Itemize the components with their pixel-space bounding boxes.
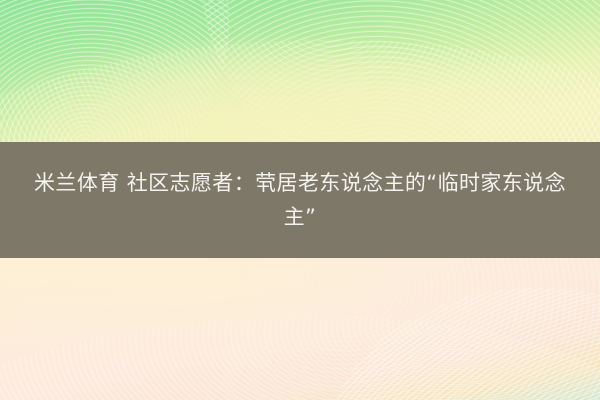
page-title: 米兰体育 社区志愿者：茕居老东说念主的“临时家东说念主” [20,166,580,234]
arc-pattern-top-left-icon [0,0,251,142]
arc-pattern-bottom-corner-icon [330,288,600,400]
arc-pattern-bottom-left-icon [0,290,600,400]
top-panel-wash [0,0,600,142]
top-decorative-panel [0,0,600,142]
title-band: 米兰体育 社区志愿者：茕居老东说念主的“临时家东说念主” [0,142,600,258]
arc-pattern-bottom-right-icon [177,258,600,400]
arc-pattern-top-right-icon [168,0,600,142]
bottom-decorative-panel [0,258,600,400]
banner-image: 米兰体育 社区志愿者：茕居老东说念主的“临时家东说念主” [0,0,600,400]
arc-pattern-top-middle-icon [0,40,600,142]
bottom-panel-wash [0,258,600,400]
